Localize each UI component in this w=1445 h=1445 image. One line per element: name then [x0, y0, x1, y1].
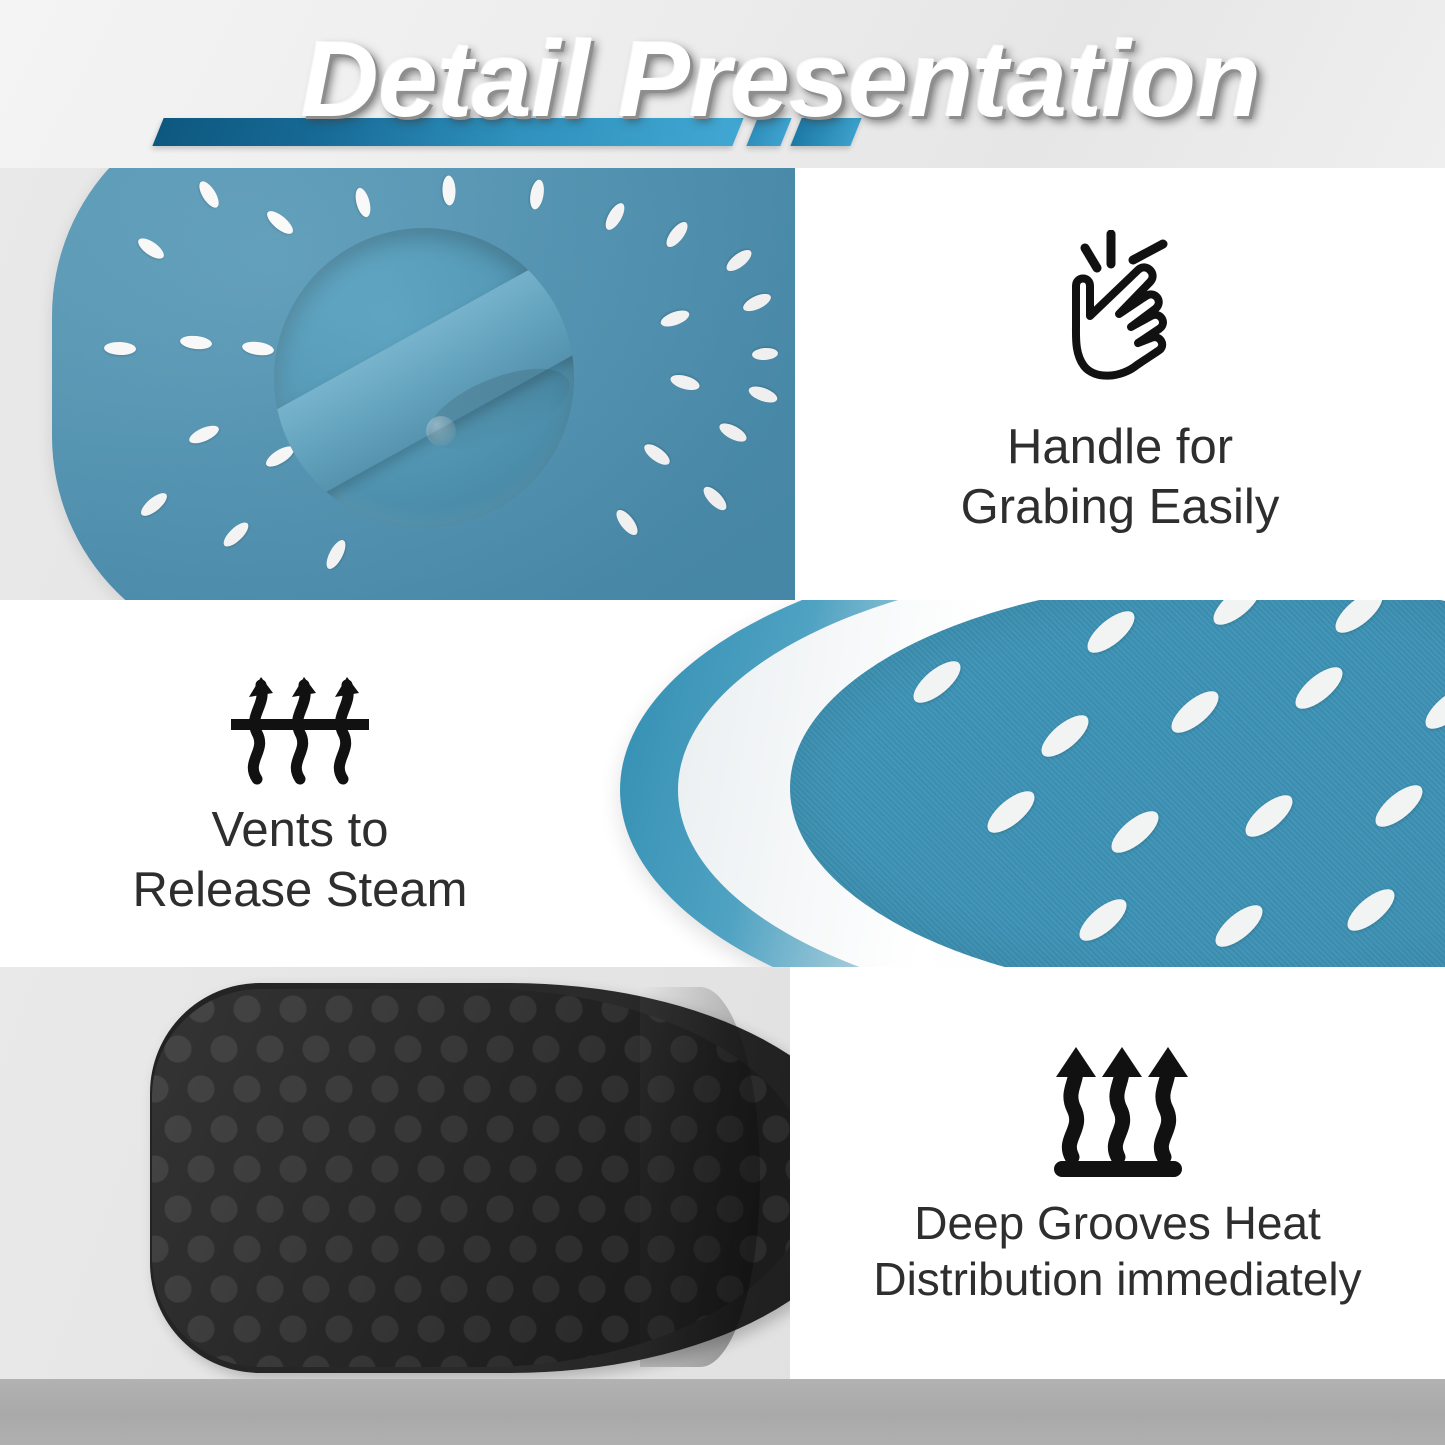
caption-text-handle: Handle for Grabing Easily — [961, 418, 1280, 538]
trivet-side-wall — [640, 987, 760, 1367]
product-photo-honeycomb-trivet — [0, 967, 900, 1379]
caption-card-grooves: Deep Grooves Heat Distribution immediate… — [790, 967, 1445, 1379]
steam-vents-icon — [215, 647, 385, 787]
product-photo-mat-in-pot — [590, 600, 1445, 967]
infographic-page: Detail Presentation — [0, 0, 1445, 1445]
caption-card-vents: Vents to Release Steam — [0, 600, 600, 967]
grabbing-hand-icon — [1045, 230, 1195, 400]
header-banner: Detail Presentation — [0, 0, 1445, 168]
handle-center-dimple — [426, 416, 456, 446]
heat-rising-icon — [1038, 1039, 1198, 1179]
handle-lip-shadow — [418, 352, 574, 466]
silicone-mat-top-view — [52, 168, 800, 600]
silicone-mat-in-pot — [790, 600, 1445, 967]
feature-panel-handle: Handle for Grabing Easily — [0, 168, 1445, 600]
page-title: Detail Presentation — [0, 22, 1260, 135]
feature-panel-vents: Vents to Release Steam — [0, 600, 1445, 967]
caption-card-handle: Handle for Grabing Easily — [795, 168, 1445, 600]
caption-text-vents: Vents to Release Steam — [132, 801, 467, 921]
feature-panel-grooves: Deep Grooves Heat Distribution immediate… — [0, 967, 1445, 1379]
footer-band — [0, 1379, 1445, 1445]
mat-pull-handle — [274, 228, 574, 528]
caption-text-grooves: Deep Grooves Heat Distribution immediate… — [873, 1195, 1361, 1307]
handle-grip-bar — [274, 243, 574, 516]
